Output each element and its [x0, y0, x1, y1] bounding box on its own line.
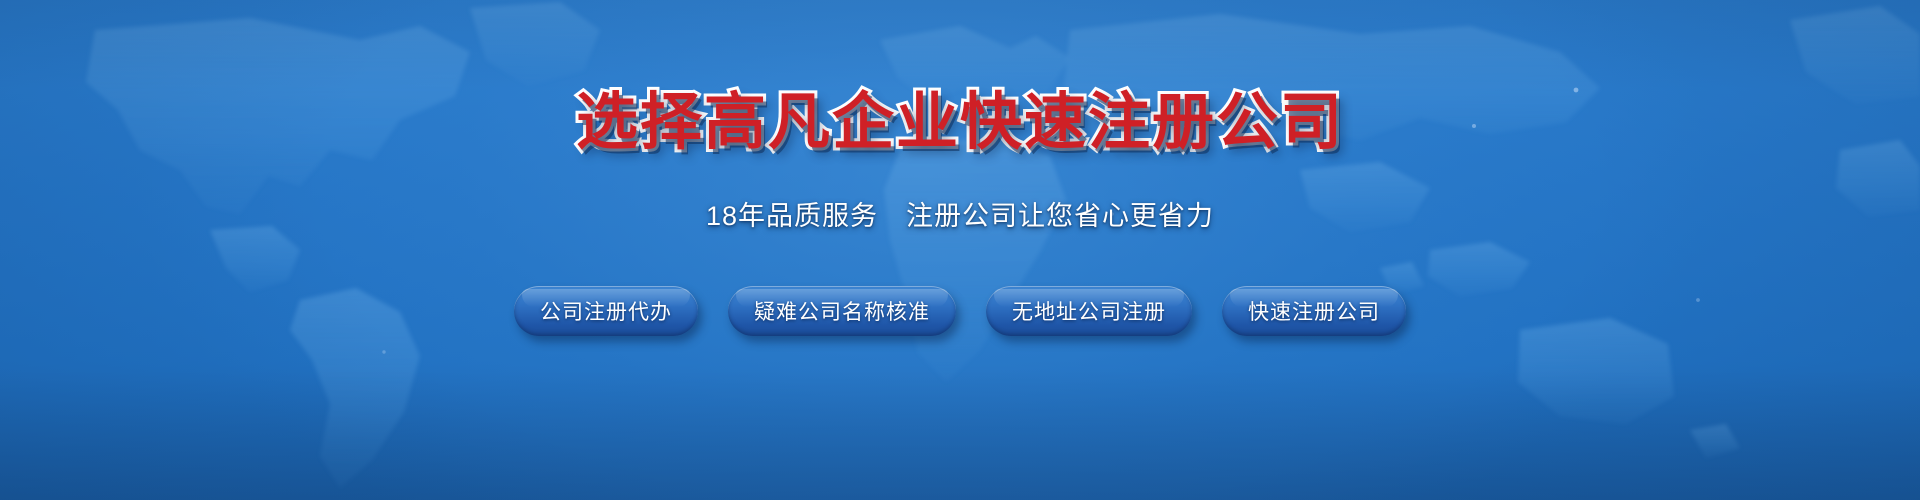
service-button-row: 公司注册代办 疑难公司名称核准 无地址公司注册 快速注册公司: [514, 286, 1406, 336]
service-button-company-registration-agency[interactable]: 公司注册代办: [514, 286, 698, 336]
banner-subtitle: 18年品质服务 注册公司让您省心更省力: [706, 194, 1214, 233]
service-button-fast-registration[interactable]: 快速注册公司: [1222, 286, 1406, 336]
service-button-difficult-name-approval[interactable]: 疑难公司名称核准: [728, 286, 956, 336]
service-button-no-address-registration[interactable]: 无地址公司注册: [986, 286, 1192, 336]
banner-content: 选择高凡企业快速注册公司 18年品质服务 注册公司让您省心更省力 公司注册代办 …: [0, 0, 1920, 500]
banner-title: 选择高凡企业快速注册公司: [576, 92, 1344, 154]
promo-banner: 选择高凡企业快速注册公司 18年品质服务 注册公司让您省心更省力 公司注册代办 …: [0, 0, 1920, 500]
